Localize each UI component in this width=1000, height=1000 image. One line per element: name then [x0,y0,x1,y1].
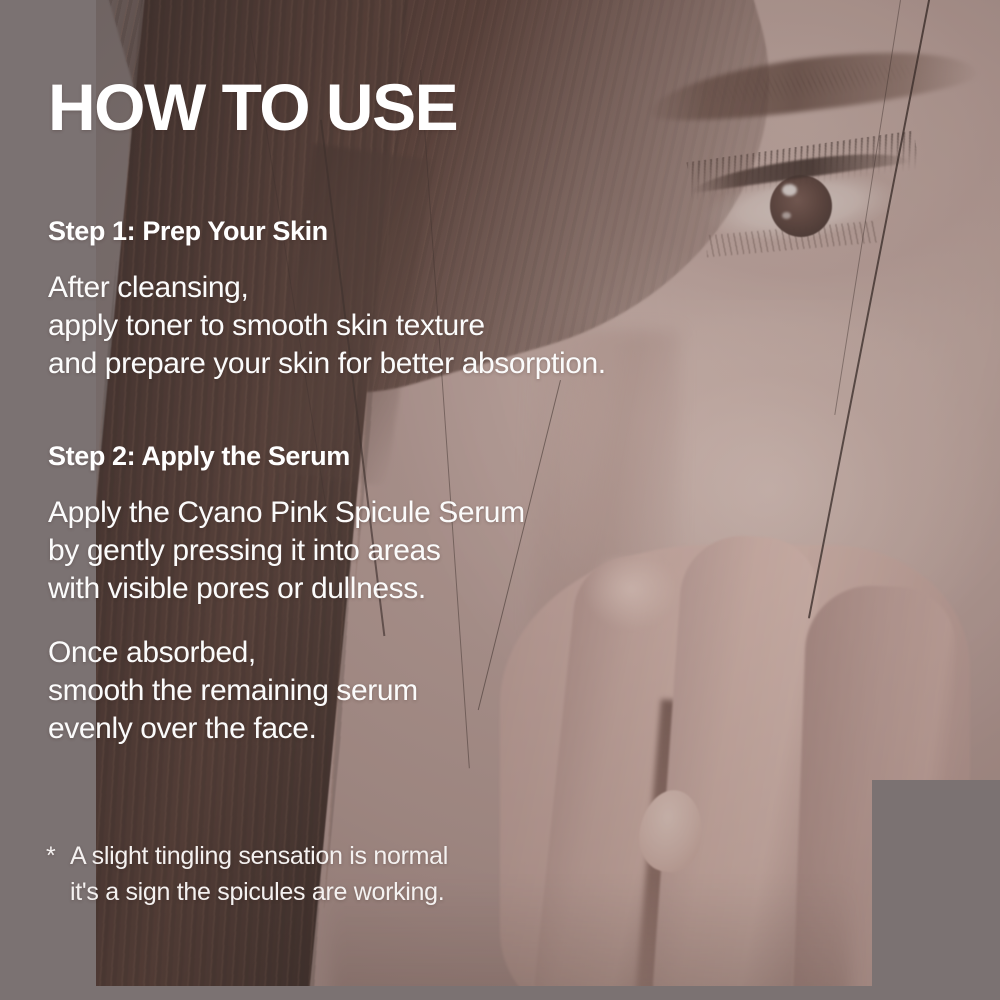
text-line: with visible pores or dullness. [48,570,748,608]
footnote-text: A slight tingling sensation is normal [70,838,448,874]
step-2-paragraph-2: Once absorbed, smooth the remaining seru… [48,634,748,748]
text-line: Apply the Cyano Pink Spicule Serum [48,494,748,532]
footnote-line-1: * A slight tingling sensation is normal [46,838,448,874]
text-line: After cleansing, [48,269,748,307]
step-1-block: Step 1: Prep Your Skin After cleansing, … [48,216,748,383]
asterisk-marker: * [46,838,70,874]
step-1-heading: Step 1: Prep Your Skin [48,216,748,247]
step-1-paragraph: After cleansing, apply toner to smooth s… [48,269,748,383]
text-line: apply toner to smooth skin texture [48,307,748,345]
step-2-paragraph-1: Apply the Cyano Pink Spicule Serum by ge… [48,494,748,608]
how-to-use-poster: HOW TO USE Step 1: Prep Your Skin After … [0,0,1000,1000]
footnote: * A slight tingling sensation is normal … [46,838,448,910]
footnote-line-2: it's a sign the spicules are working. [46,874,448,910]
page-title: HOW TO USE [48,74,457,140]
step-2-heading: Step 2: Apply the Serum [48,441,748,472]
text-line: Once absorbed, [48,634,748,672]
steps-list: Step 1: Prep Your Skin After cleansing, … [48,216,748,748]
text-line: evenly over the face. [48,710,748,748]
text-line: and prepare your skin for better absorpt… [48,345,748,383]
step-2-block: Step 2: Apply the Serum Apply the Cyano … [48,441,748,748]
text-line: by gently pressing it into areas [48,532,748,570]
content-layer: HOW TO USE Step 1: Prep Your Skin After … [0,0,1000,1000]
text-line: smooth the remaining serum [48,672,748,710]
